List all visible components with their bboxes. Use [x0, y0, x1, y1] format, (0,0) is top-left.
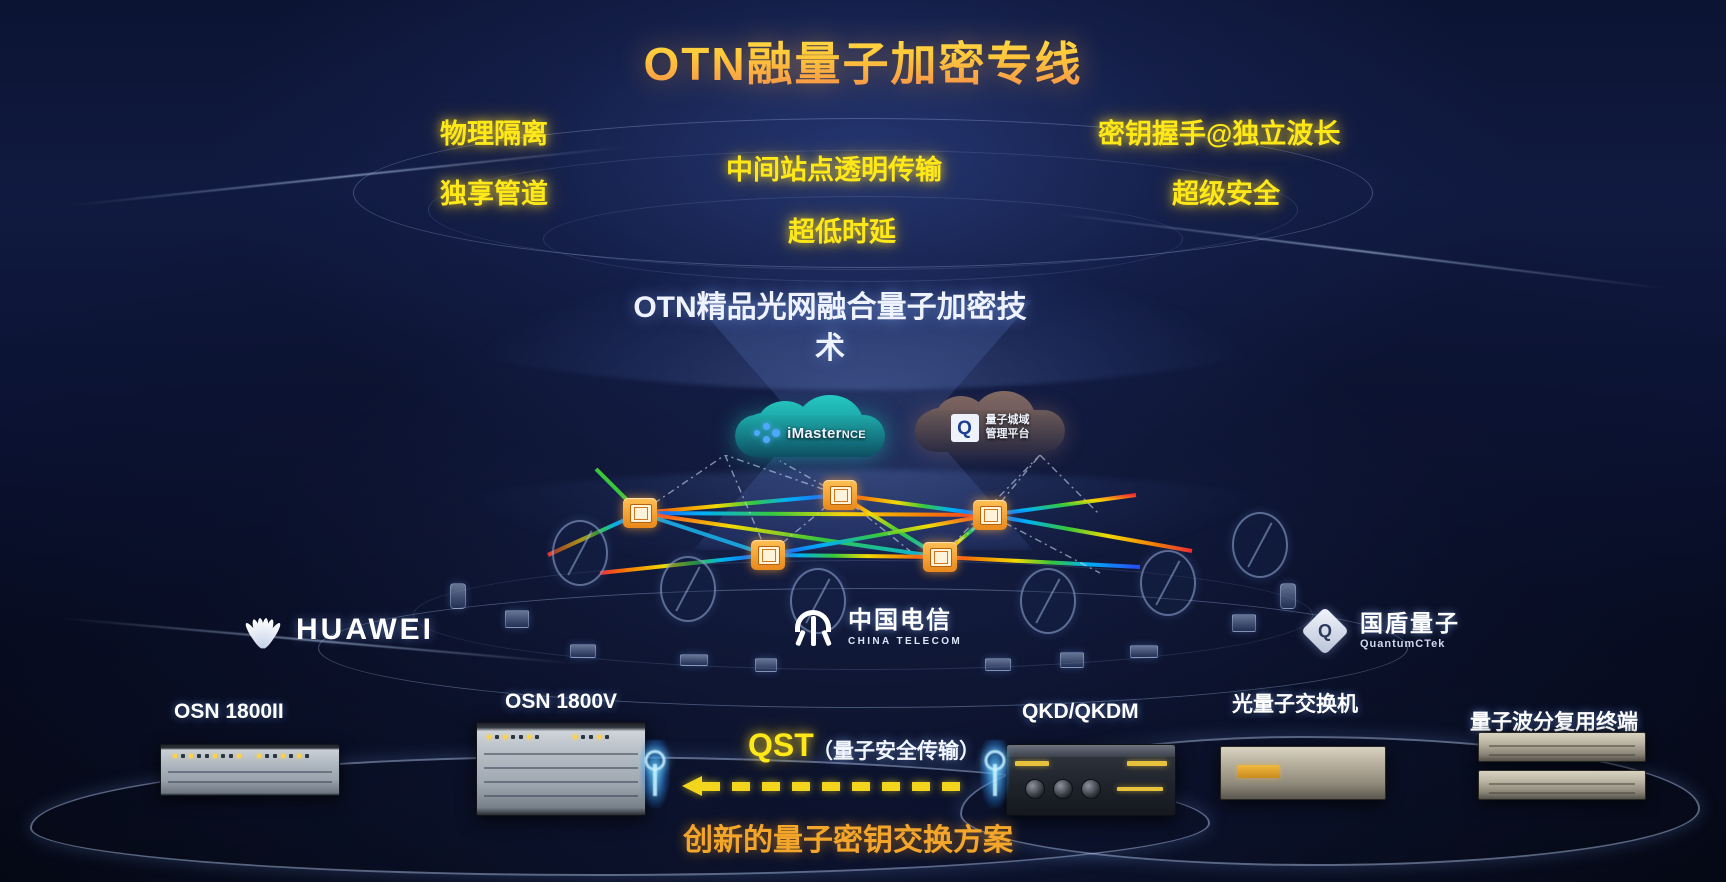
- china-telecom-logo: 中国电信 CHINA TELECOM: [792, 608, 962, 648]
- ring-node-2: [660, 556, 716, 622]
- quantumctek-glyph: Q: [1308, 614, 1342, 648]
- quantumctek-logo: Q 国盾量子 QuantumCTek: [1308, 612, 1460, 650]
- quantumctek-cn: 国盾量子: [1360, 612, 1460, 635]
- qkd-status-bar-right: [1127, 761, 1167, 766]
- quantum-platform-line1: 量子城域: [986, 414, 1030, 428]
- feature-center-1: 中间站点透明传输: [726, 148, 942, 187]
- qkd-led-strip: [1117, 787, 1163, 791]
- quantum-key-icon-right: [980, 740, 1010, 808]
- switch-module-amber: [1237, 765, 1280, 779]
- topology-node-2[interactable]: [823, 480, 857, 510]
- feature-center-2: 超低时延: [788, 210, 896, 249]
- device-optical-quantum-switch[interactable]: [1220, 746, 1386, 800]
- qkd-top-panel: [1007, 745, 1175, 757]
- topology-node-1[interactable]: [623, 498, 657, 528]
- mini-device-box-2: [680, 654, 708, 666]
- qkd-port-1: [1025, 779, 1045, 799]
- feature-right-2: 超级安全: [1172, 172, 1280, 211]
- mini-device-server-2: [1232, 614, 1256, 632]
- ring-node-6: [1232, 512, 1288, 578]
- mini-device-box-5: [1060, 652, 1084, 668]
- quantum-platform-label: 量子城域 管理平台: [986, 414, 1030, 442]
- section-subtitle: OTN精品光网融合量子加密技术: [620, 288, 1040, 369]
- huawei-wordmark: HUAWEI: [296, 613, 434, 647]
- device-osn-1800v[interactable]: [476, 722, 646, 816]
- qst-arrow-dashes: [702, 782, 964, 791]
- feature-left-2: 独享管道: [440, 172, 548, 211]
- qst-arrow-head: [682, 776, 702, 796]
- ring-node-1: [552, 520, 608, 586]
- china-telecom-cn: 中国电信: [848, 609, 962, 633]
- quantumctek-diamond-icon: Q: [1301, 607, 1349, 655]
- huawei-logo: HUAWEI: [242, 612, 434, 648]
- quantumctek-wordmark: 国盾量子 QuantumCTek: [1360, 612, 1460, 650]
- quantum-key-icon-left: [640, 740, 670, 808]
- quantumctek-en: QuantumCTek: [1360, 638, 1460, 650]
- quantum-platform-cloud[interactable]: Q 量子城域 管理平台: [915, 390, 1065, 452]
- topology-node-4[interactable]: [973, 500, 1007, 530]
- china-telecom-icon: [792, 608, 836, 648]
- mini-device-phone-right: [1280, 583, 1296, 609]
- qkd-port-3: [1081, 779, 1101, 799]
- device-label-osn-1800v: OSN 1800V: [505, 690, 617, 714]
- qkd-status-bar-left: [1015, 761, 1049, 766]
- device-label-optical-quantum-switch: 光量子交换机: [1232, 688, 1358, 718]
- imaster-dots-icon: [754, 421, 780, 445]
- network-topology: [540, 455, 1200, 590]
- ring-node-5: [1140, 550, 1196, 616]
- topology-node-5[interactable]: [923, 542, 957, 572]
- china-telecom-en: CHINA TELECOM: [848, 636, 962, 647]
- device-qkd-qkdm[interactable]: [1006, 744, 1176, 816]
- glow-sweep-mid: [1052, 212, 1668, 290]
- mini-device-server-1: [505, 610, 529, 628]
- mini-device-box-3: [755, 658, 777, 672]
- diagram-canvas: OTN融量子加密专线 物理隔离 独享管道 中间站点透明传输 超低时延 密钥握手@…: [0, 0, 1726, 882]
- mini-device-box-1: [570, 644, 596, 658]
- mini-device-phone-left: [450, 583, 466, 609]
- q-glyph: Q: [957, 419, 972, 438]
- huawei-flower-icon: [242, 612, 284, 648]
- mini-device-box-6: [1130, 645, 1158, 658]
- imaster-label-main: iMaster: [787, 425, 842, 442]
- device-quantum-wdm-terminal-top[interactable]: [1478, 732, 1646, 762]
- imaster-nce-cloud[interactable]: iMasterNCE: [735, 395, 885, 457]
- qst-expansion: （量子安全传输）: [812, 735, 980, 765]
- device-quantum-wdm-terminal-bottom[interactable]: [1478, 770, 1646, 800]
- china-telecom-wordmark: 中国电信 CHINA TELECOM: [848, 609, 962, 647]
- mini-device-box-4: [985, 658, 1011, 671]
- ring-node-4: [1020, 568, 1076, 634]
- page-title: OTN融量子加密专线: [0, 28, 1726, 94]
- qst-abbr: QST: [748, 727, 814, 764]
- device-osn-1800ii[interactable]: [160, 744, 340, 796]
- qst-dashed-arrow: [682, 782, 964, 791]
- quantumctek-q-icon: Q: [951, 414, 979, 442]
- quantum-platform-line2: 管理平台: [986, 428, 1030, 442]
- imaster-label-sub: NCE: [842, 429, 866, 441]
- qkd-port-2: [1053, 779, 1073, 799]
- feature-right-1: 密钥握手@独立波长: [1098, 112, 1340, 151]
- feature-left-1: 物理隔离: [440, 112, 548, 151]
- footer-note: 创新的量子密钥交换方案: [683, 815, 1013, 859]
- subtitle-text: OTN精品光网融合量子加密技术: [633, 291, 1026, 365]
- imaster-label: iMasterNCE: [787, 425, 866, 442]
- topology-node-3[interactable]: [751, 540, 785, 570]
- device-label-osn-1800ii: OSN 1800II: [174, 700, 284, 724]
- device-label-qkd-qkdm: QKD/QKDM: [1022, 700, 1139, 724]
